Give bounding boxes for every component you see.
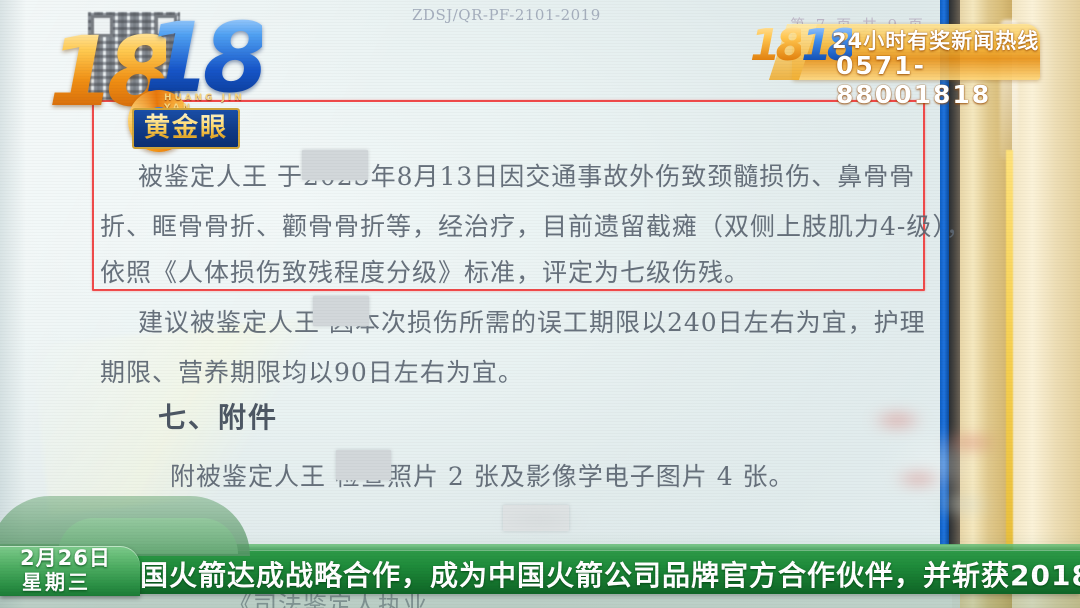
news-ticker-text: 国火箭达成战略合作，成为中国火箭公司品牌官方合作伙伴，并斩获2018-2021 — [140, 554, 1080, 588]
paragraph-1-line-2: 折、眶骨骨折、颧骨骨折等，经治疗，目前遗留截瘫（双侧上肢肌力4-级）， — [100, 202, 972, 252]
redacted-name-block — [313, 296, 369, 326]
blurred-seal — [845, 395, 1020, 535]
hotline-logo-gold: 18 — [750, 20, 801, 71]
paragraph-2-line-2: 期限、营养期限均以90日左右为宜。 — [100, 348, 524, 398]
hotline-bug: 1818 24小时有奖新闻热线 0571-88001818 — [740, 18, 1040, 88]
channel-logo: 18 18 HUANG JIN YAN 黄金眼 — [46, 8, 266, 168]
hotline-line-2: 0571-88001818 — [836, 51, 1040, 109]
section-7-body: 附被鉴定人王 检查照片 2 张及影像学电子图片 4 张。 — [170, 452, 795, 502]
section-7-title: 七、附件 — [158, 396, 278, 436]
logo-subtitle-plate: 黄金眼 — [132, 108, 240, 149]
paragraph-1-line-3: 依照《人体损伤致残程度分级》标准，评定为七级伤残。 — [100, 248, 750, 298]
redacted-name-block — [302, 150, 368, 180]
broadcast-screenshot: ZDSJ/QR-PF-2101-2019 第 7 页 共 9 页 被鉴定人王 于… — [0, 0, 1080, 608]
paragraph-2-line-1: 建议被鉴定人王 因本次损伤所需的误工期限以240日左右为宜，护理 — [138, 298, 926, 348]
document-header-code: ZDSJ/QR-PF-2101-2019 — [412, 6, 601, 24]
redacted-name-block — [336, 450, 391, 480]
date-badge-weekday: 星期三 — [22, 566, 91, 595]
logo-subtitle-text: 黄金眼 — [144, 113, 228, 143]
